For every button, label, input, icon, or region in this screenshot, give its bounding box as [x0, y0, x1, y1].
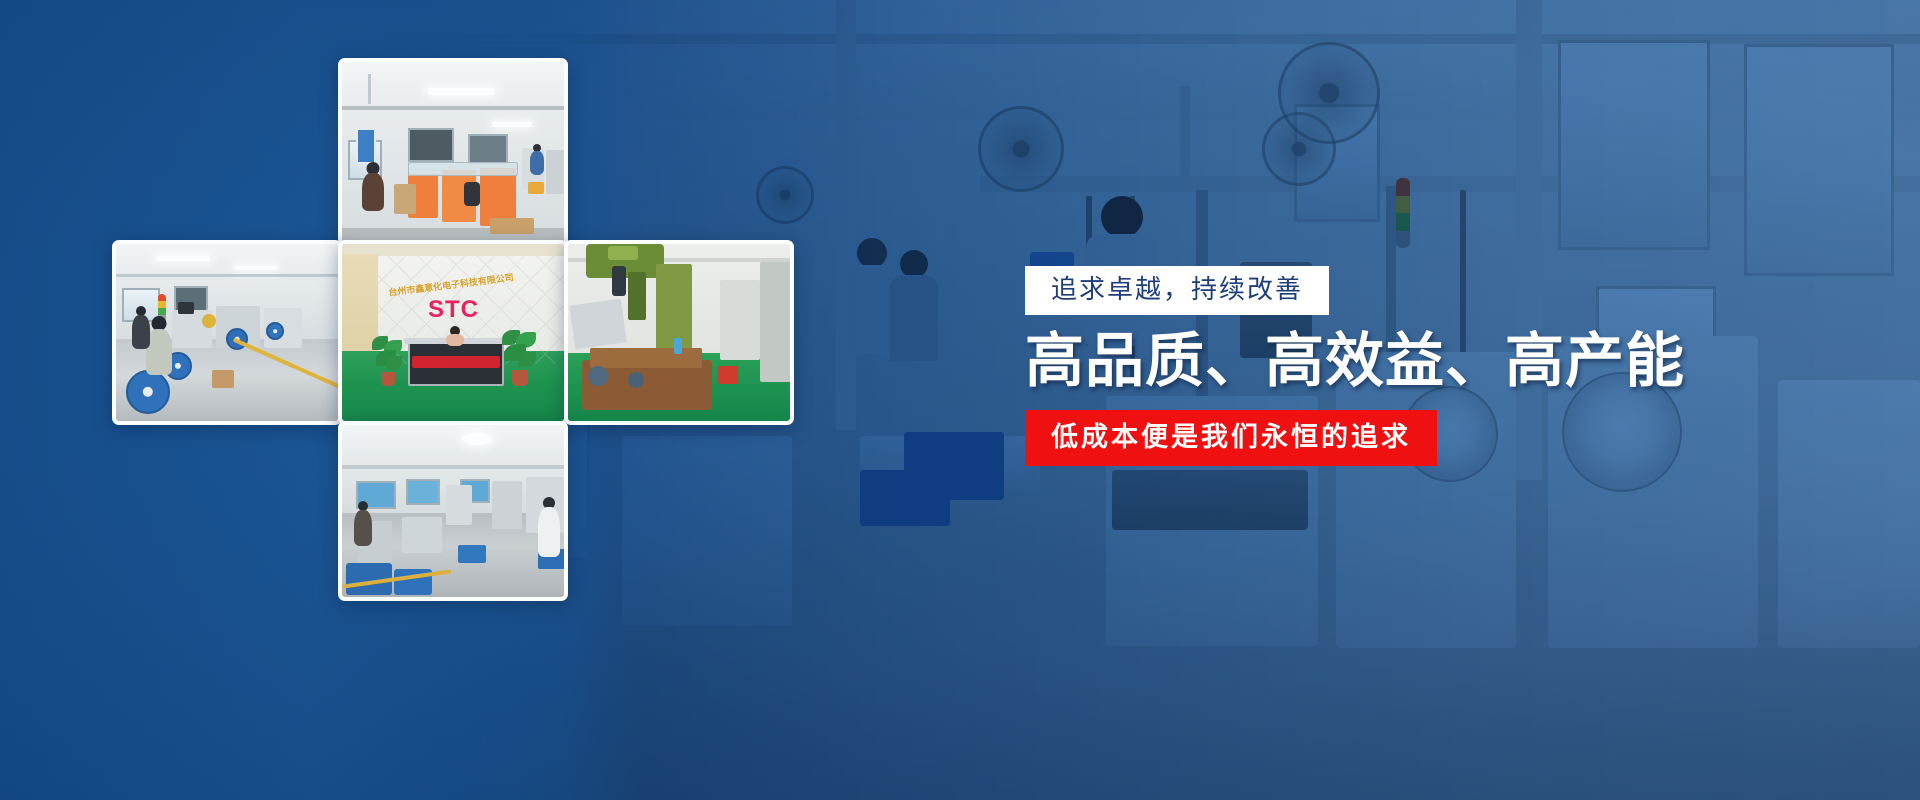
- reception-desk-accent: [412, 356, 500, 368]
- list-item[interactable]: [338, 421, 568, 601]
- production-machine: [546, 150, 568, 194]
- photo-left: [116, 244, 338, 421]
- machine-handwheel: [588, 366, 608, 386]
- ceiling-light-icon: [492, 122, 532, 127]
- potted-plant: [370, 336, 406, 388]
- machine-table: [590, 348, 702, 368]
- ceiling-pipe: [368, 74, 371, 104]
- promo-banner: 台州市鑫意化电子科技有限公司 STC CO. LTD: [0, 0, 1920, 800]
- ceiling-pipe: [342, 106, 568, 110]
- storage-crate: [528, 182, 544, 194]
- page-title: 高品质、高效益、高产能: [1025, 328, 1545, 394]
- production-machine: [492, 481, 522, 529]
- machine-spindle: [612, 266, 626, 296]
- stc-logo: STC: [428, 296, 479, 324]
- control-panel: [178, 302, 194, 314]
- cubicle-glass: [408, 162, 518, 176]
- cardboard-box: [394, 184, 416, 214]
- worker-silhouette: [538, 497, 560, 557]
- receptionist: [446, 326, 464, 344]
- machine-panel: [720, 280, 760, 360]
- storage-crate: [458, 545, 486, 563]
- photo-center: 台州市鑫意化电子科技有限公司 STC CO. LTD: [342, 244, 564, 421]
- window: [406, 479, 440, 505]
- production-machine: [446, 485, 472, 525]
- machine-guard: [569, 299, 627, 350]
- cardboard-box: [212, 370, 234, 388]
- subtitle-red-badge: 低成本便是我们永恒的追求: [1025, 410, 1437, 466]
- water-bottle: [674, 338, 682, 354]
- ceiling-light-icon: [156, 256, 210, 261]
- photo-right: [568, 244, 790, 421]
- material-reel: [202, 314, 216, 328]
- ceiling-pipe: [342, 465, 568, 469]
- worker-silhouette: [354, 501, 372, 545]
- photo-bottom: [342, 425, 564, 597]
- wooden-pallet: [490, 218, 534, 234]
- banner-copy: 追求卓越，持续改善 高品质、高效益、高产能 低成本便是我们永恒的追求: [1025, 266, 1545, 466]
- red-container: [718, 366, 738, 384]
- office-chair: [464, 182, 480, 206]
- worker-silhouette: [132, 306, 150, 348]
- ceiling-light-icon: [234, 266, 278, 270]
- worker-silhouette: [530, 144, 544, 174]
- list-item[interactable]: [564, 240, 794, 425]
- ceiling-light-icon: [428, 88, 494, 95]
- material-reel: [126, 370, 170, 414]
- material-reel: [266, 322, 284, 340]
- ceiling-light-icon: [462, 433, 492, 445]
- list-item[interactable]: [112, 240, 342, 425]
- photo-collage: 台州市鑫意化电子科技有限公司 STC CO. LTD: [112, 58, 812, 598]
- window: [408, 128, 454, 162]
- window: [468, 134, 508, 164]
- milling-machine-head: [608, 246, 638, 260]
- notice-board: [356, 128, 376, 164]
- potted-plant: [500, 330, 540, 388]
- machine-arm: [628, 272, 646, 320]
- ceiling-pipe: [116, 274, 342, 277]
- list-item[interactable]: 台州市鑫意化电子科技有限公司 STC CO. LTD: [338, 240, 568, 425]
- tagline-badge: 追求卓越，持续改善: [1025, 266, 1329, 315]
- machine-handwheel: [628, 372, 644, 388]
- machine-panel: [760, 262, 794, 382]
- production-machine: [402, 517, 442, 553]
- worker-silhouette: [362, 162, 384, 210]
